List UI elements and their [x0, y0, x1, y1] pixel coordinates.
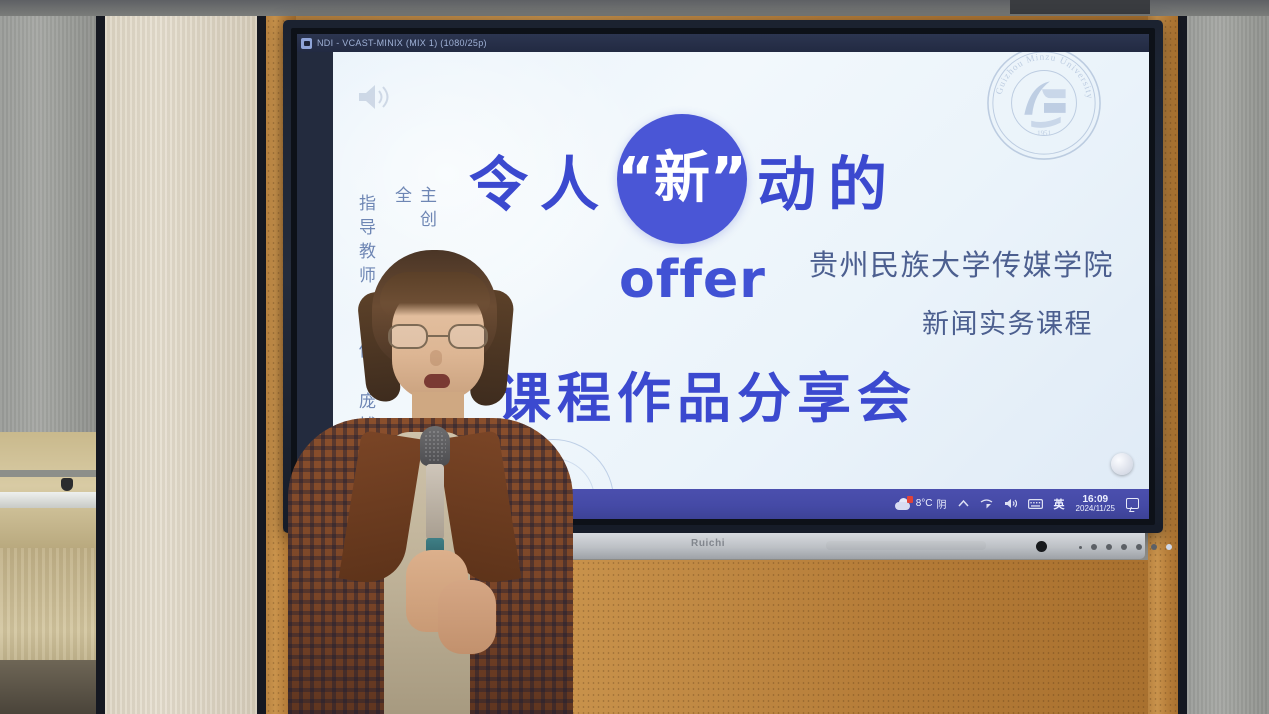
chevron-up-icon[interactable]	[958, 499, 969, 508]
taskbar-clock[interactable]: 16:09 2024/11/25	[1076, 494, 1115, 514]
highlight-circle-new: “新”	[617, 114, 747, 244]
title-char-2: 人	[540, 137, 607, 222]
wall-seam	[257, 0, 266, 714]
power-button[interactable]	[1036, 541, 1047, 552]
clock-date: 2024/11/25	[1076, 505, 1115, 514]
organization-text: 贵州民族大学传媒学院	[809, 242, 1114, 284]
title-char-3: 动	[757, 137, 824, 222]
room-background: 1951 Guizhou Minzu University 令 人 “新” 动 …	[0, 0, 1269, 714]
volume-icon	[357, 82, 391, 112]
cabinet-knob	[61, 478, 73, 491]
ime-indicator[interactable]: 英	[1054, 496, 1065, 512]
ceiling-vent	[1010, 0, 1150, 14]
offer-text: offer	[619, 250, 766, 310]
glasses-bridge	[428, 335, 448, 337]
display-brand-label: Ruichi	[691, 538, 725, 549]
window-title-bar[interactable]: NDI - VCAST-MINIX (MIX 1) (1080/25p)	[297, 34, 1149, 52]
presenter	[288, 250, 573, 714]
mouth	[424, 374, 450, 388]
microphone-body	[426, 464, 444, 540]
network-icon[interactable]	[980, 498, 993, 509]
keyboard-icon[interactable]	[1028, 499, 1043, 509]
glasses-icon	[388, 324, 488, 350]
circle-word: “新”	[617, 151, 747, 207]
control-dot[interactable]	[1106, 544, 1112, 550]
volume-icon[interactable]	[1004, 498, 1017, 509]
cloud-icon	[895, 498, 912, 510]
nose	[430, 350, 442, 366]
control-dot[interactable]	[1136, 544, 1142, 550]
window-icon	[301, 38, 312, 49]
weather-widget[interactable]: 8°C 阴	[895, 496, 947, 511]
title-char-4: 的	[828, 137, 895, 222]
hair-bangs	[380, 272, 490, 316]
wall-seam	[1178, 0, 1187, 714]
microphone-head	[420, 426, 450, 466]
hand-lower	[438, 580, 496, 654]
slide-title-row: 令 人 “新” 动 的	[469, 114, 895, 244]
control-dot[interactable]	[1151, 544, 1157, 550]
title-char-1: 令	[469, 137, 536, 222]
wall-panel-cream-1	[105, 0, 257, 714]
control-dot[interactable]	[1121, 544, 1127, 550]
svg-text:1951: 1951	[1037, 130, 1051, 137]
side-cabinet-lip	[0, 470, 96, 477]
guizhou-minzu-university-seal-icon: 1951 Guizhou Minzu University	[985, 44, 1103, 162]
side-cabinet-top	[0, 492, 96, 508]
ir-sensor-strip	[826, 541, 986, 550]
course-text: 新闻实务课程	[922, 302, 1093, 341]
wall-right-gray	[1187, 0, 1269, 714]
glasses-lens-right	[448, 324, 488, 349]
control-dot[interactable]	[1079, 546, 1082, 549]
weather-desc: 阴	[937, 496, 947, 511]
screen-corner-button[interactable]	[1111, 453, 1133, 475]
system-tray: 8°C 阴	[895, 494, 1149, 514]
wall-seam	[96, 0, 105, 714]
control-dot[interactable]	[1091, 544, 1097, 550]
power-led	[1166, 544, 1172, 550]
notification-icon[interactable]	[1126, 498, 1139, 509]
weather-temp: 8°C	[916, 498, 933, 509]
control-buttons[interactable]	[1079, 543, 1199, 551]
window-title-text: NDI - VCAST-MINIX (MIX 1) (1080/25p)	[317, 38, 487, 48]
glasses-lens-left	[388, 324, 428, 349]
floor-shadow-band	[0, 660, 96, 714]
